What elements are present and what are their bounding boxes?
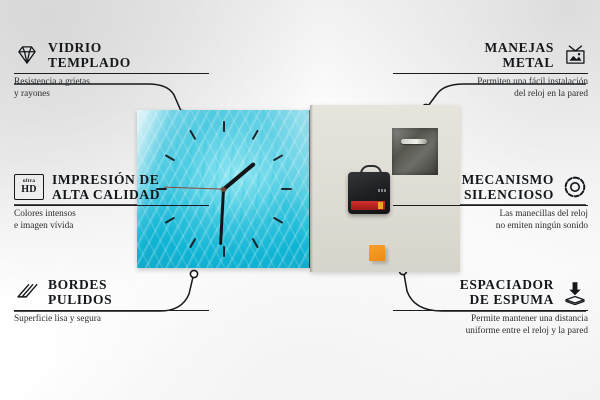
hour-mark — [251, 130, 258, 141]
callout-manejas-metal[interactable]: MANEJAS METAL Permiten una fácil instala… — [393, 40, 588, 100]
callout-subtitle-line1: Permite mantener una distancia — [393, 314, 588, 325]
mechanism-label-strip — [378, 189, 387, 192]
callout-title-line2: ALTA CALIDAD — [52, 187, 160, 202]
infographic-canvas: VIDRIO TEMPLADO Resistencia a grietas y … — [0, 0, 600, 400]
callout-title-line1: BORDES — [48, 277, 112, 292]
hour-mark — [272, 217, 283, 224]
callout-bordes-pulidos[interactable]: BORDES PULIDOS Superficie lisa y segura — [14, 277, 209, 326]
callout-rule — [14, 73, 209, 74]
callout-subtitle-line2: del reloj en la pared — [393, 89, 588, 100]
callout-subtitle-line1: Permiten una fácil instalación — [393, 77, 588, 88]
callout-title-line1: MECANISMO — [462, 172, 554, 187]
callout-vidrio-templado[interactable]: VIDRIO TEMPLADO Resistencia a grietas y … — [14, 40, 209, 100]
callout-title-line2: PULIDOS — [48, 292, 112, 307]
callout-title-line1: IMPRESIÓN DE — [52, 172, 160, 187]
hour-mark — [281, 188, 292, 190]
callout-subtitle-line1: Superficie lisa y segura — [14, 314, 209, 325]
foam-spacer-part — [369, 245, 385, 261]
callout-title-line1: ESPACIADOR — [460, 277, 554, 292]
clock-center-cap — [221, 187, 226, 192]
wall-hanger-icon — [562, 42, 588, 68]
mechanism-loop — [360, 165, 382, 176]
battery — [351, 201, 385, 210]
hour-mark — [223, 246, 225, 257]
callout-espaciador-espuma[interactable]: ESPACIADOR DE ESPUMA Permite mantener un… — [393, 277, 588, 337]
hour-mark — [164, 154, 175, 161]
clock-mechanism-part — [348, 172, 390, 214]
callout-title-line2: DE ESPUMA — [460, 292, 554, 307]
callout-title-line2: TEMPLADO — [48, 55, 131, 70]
hour-mark — [251, 238, 258, 249]
callout-mecanismo-silencioso[interactable]: MECANISMO SILENCIOSO Las manecillas del … — [393, 172, 588, 232]
diamond-icon — [14, 42, 40, 68]
polished-edges-icon — [14, 279, 40, 305]
callout-header: MANEJAS METAL — [393, 40, 588, 70]
ultra-hd-icon-main-text: HD — [21, 185, 37, 195]
callout-rule — [393, 310, 588, 311]
callout-subtitle-line1: Colores intensos — [14, 209, 209, 220]
callout-title-line2: METAL — [485, 55, 554, 70]
callout-header: ultra HD IMPRESIÓN DE ALTA CALIDAD — [14, 172, 209, 202]
foam-spacer-icon — [562, 279, 588, 305]
hour-mark — [189, 238, 196, 249]
callout-title-line1: VIDRIO — [48, 40, 131, 55]
callout-subtitle-line2: e imagen vívida — [14, 221, 209, 232]
hanger-slot — [401, 139, 427, 144]
callout-title-line2: SILENCIOSO — [462, 187, 554, 202]
callout-subtitle-line1: Resistencia a grietas — [14, 77, 209, 88]
callout-rule — [393, 205, 588, 206]
metal-hanger-part — [392, 128, 438, 175]
callout-title-line1: MANEJAS — [485, 40, 554, 55]
callout-subtitle-line1: Las manecillas del reloj — [393, 209, 588, 220]
hour-mark — [189, 130, 196, 141]
callout-subtitle-line2: uniforme entre el reloj y la pared — [393, 326, 588, 337]
hour-mark — [223, 121, 225, 132]
callout-header: ESPACIADOR DE ESPUMA — [393, 277, 588, 307]
callout-rule — [393, 73, 588, 74]
callout-rule — [14, 310, 209, 311]
callout-header: BORDES PULIDOS — [14, 277, 209, 307]
callout-subtitle-line2: no emiten ningún sonido — [393, 221, 588, 232]
ultra-hd-icon: ultra HD — [14, 174, 44, 200]
gear-icon — [562, 174, 588, 200]
callout-header: MECANISMO SILENCIOSO — [393, 172, 588, 202]
callout-subtitle-line2: y rayones — [14, 89, 209, 100]
callout-rule — [14, 205, 209, 206]
callout-impresion-alta-calidad[interactable]: ultra HD IMPRESIÓN DE ALTA CALIDAD Color… — [14, 172, 209, 232]
callout-header: VIDRIO TEMPLADO — [14, 40, 209, 70]
hour-mark — [272, 154, 283, 161]
